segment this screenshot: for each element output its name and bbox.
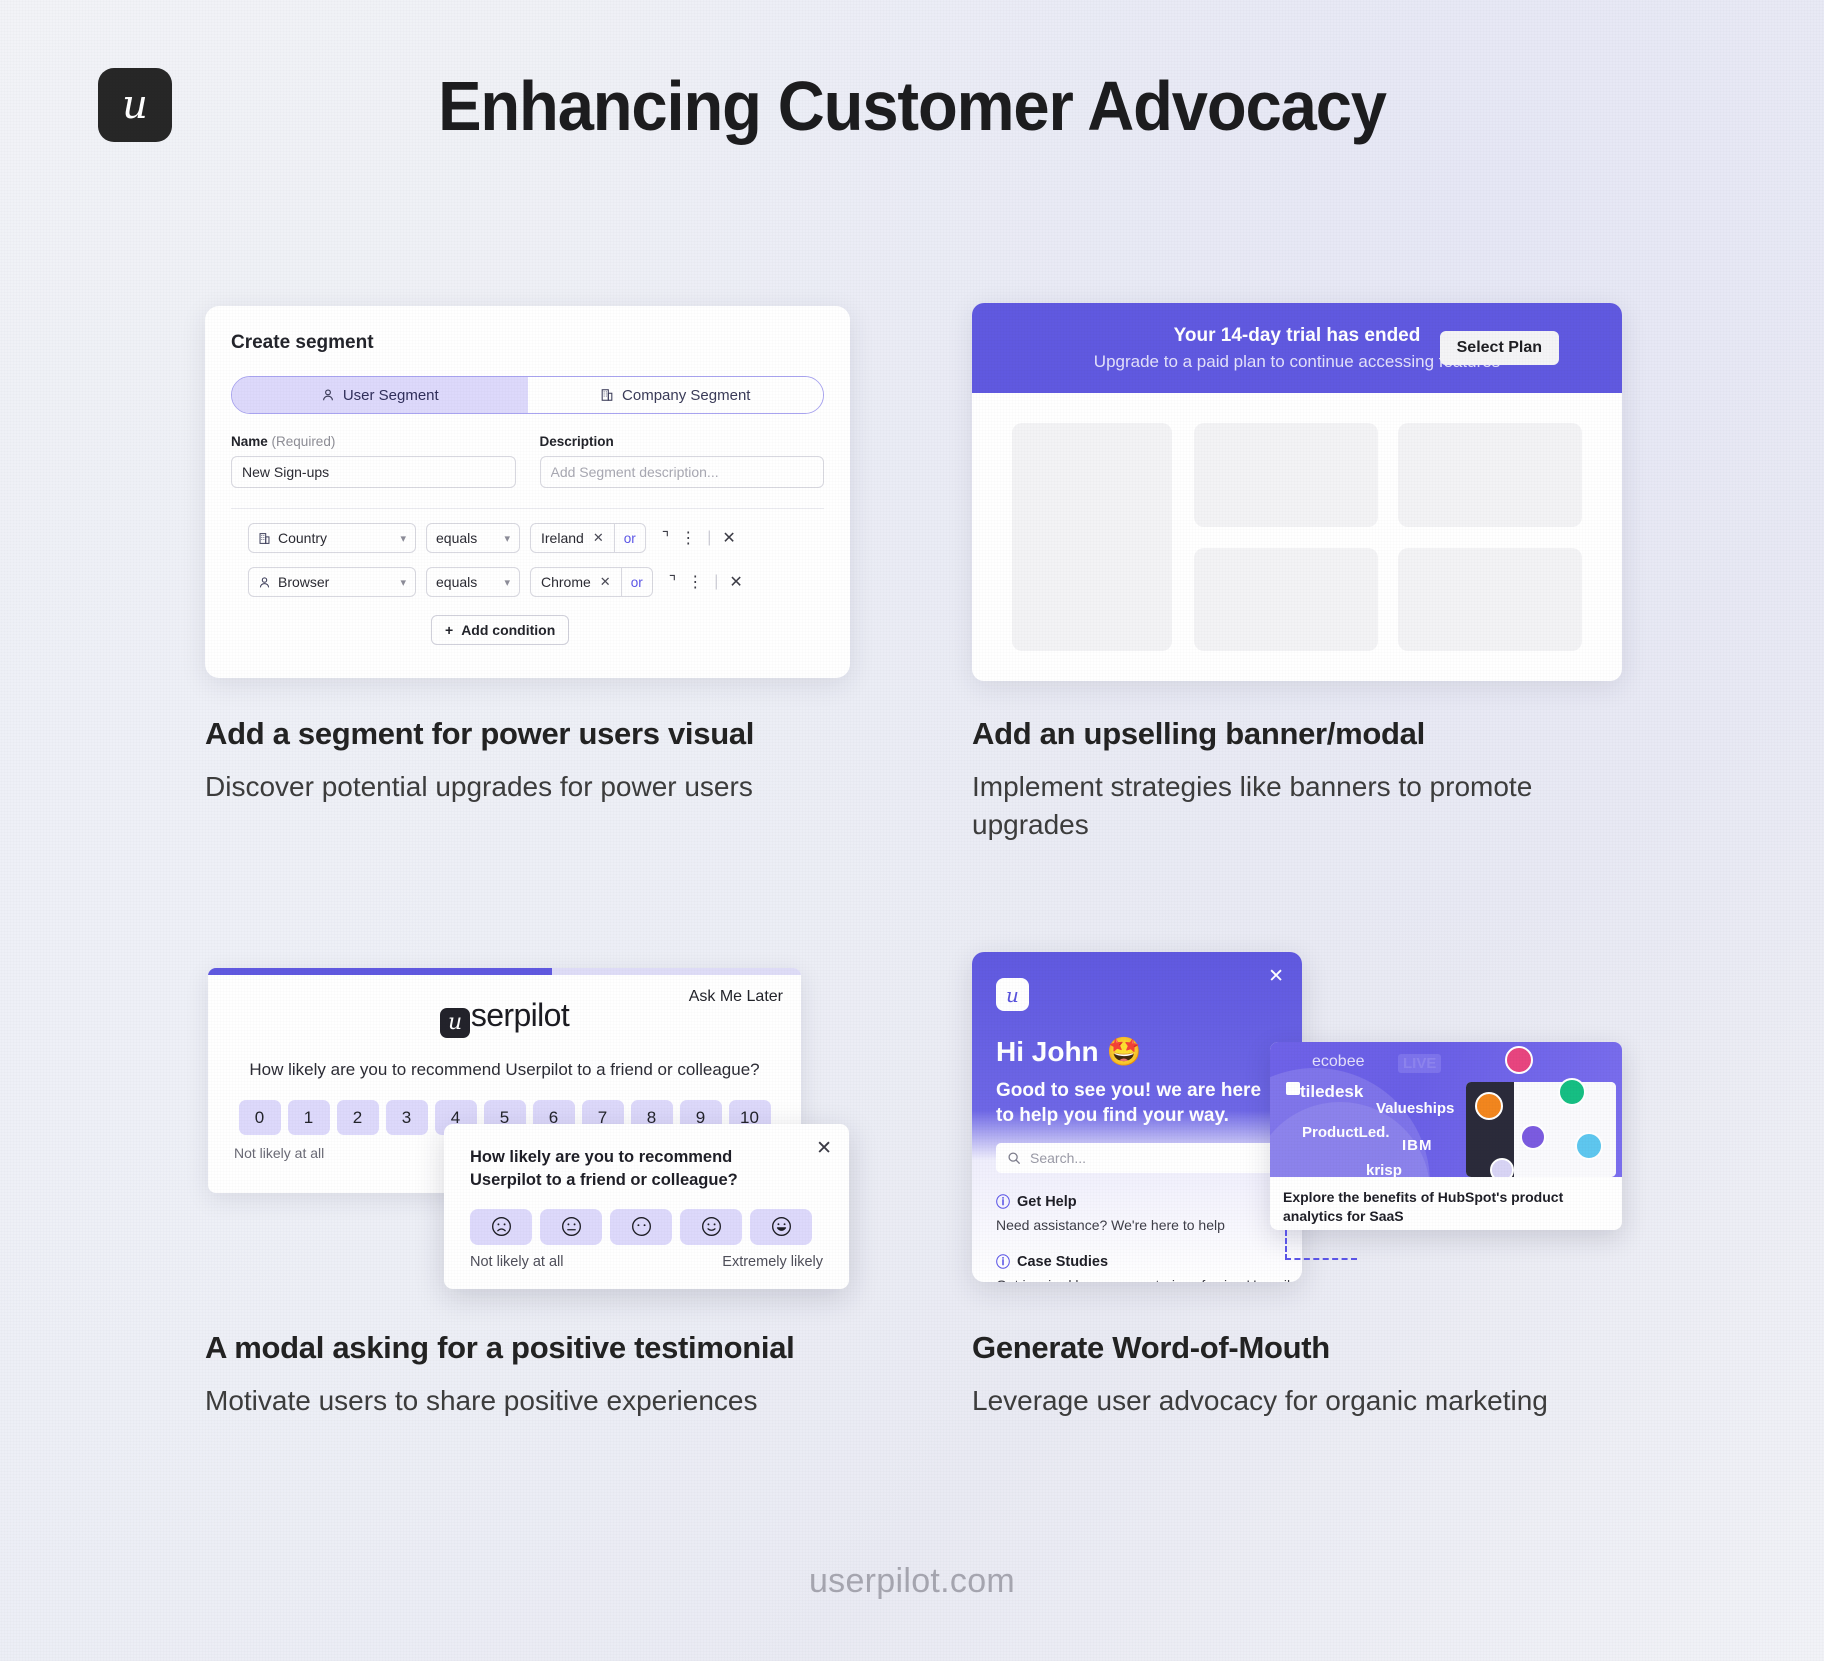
condition-joiner[interactable]: or <box>614 524 645 552</box>
info-icon: ⓘ <box>996 1192 1010 1212</box>
emoji-rating-4[interactable] <box>680 1209 742 1245</box>
tiledesk-mark-icon <box>1286 1082 1300 1095</box>
slightly-smiling-face-icon <box>700 1215 723 1238</box>
skeleton-block <box>1398 548 1582 652</box>
skeleton-block <box>1194 548 1378 652</box>
segment-name-label-text: Name <box>231 434 268 449</box>
select-plan-button[interactable]: Select Plan <box>1440 331 1559 365</box>
create-segment-card: Create segment User Segment Company Segm… <box>205 306 850 678</box>
segment-description-label: Description <box>540 434 825 449</box>
close-icon[interactable]: ✕ <box>816 1137 832 1160</box>
emoji-modal-question: How likely are you to recommend Userpilo… <box>470 1146 800 1192</box>
tab-user-segment[interactable]: User Segment <box>232 377 528 413</box>
nps-caption-sub: Motivate users to share positive experie… <box>205 1382 1035 1420</box>
upsell-banner-title: Your 14-day trial has ended <box>1174 325 1421 347</box>
nps-caption-title: A modal asking for a positive testimonia… <box>205 1330 1035 1366</box>
condition-operator-select[interactable]: equals ▾ <box>426 523 520 553</box>
segment-caption-sub: Discover potential upgrades for power us… <box>205 768 1005 806</box>
nps-score-0[interactable]: 0 <box>239 1100 281 1135</box>
delete-condition-icon[interactable]: ✕ <box>729 572 742 592</box>
segment-fields: Name (Required) Description <box>231 434 824 488</box>
userpilot-logo-icon: u <box>996 978 1029 1011</box>
emoji-rating-5[interactable] <box>750 1209 812 1245</box>
connector-line <box>1285 1230 1357 1260</box>
wom-caption: Generate Word-of-Mouth Leverage user adv… <box>972 1330 1612 1420</box>
condition-row: Browser ▾ equals ▾ Chrome ✕ or ⌝ ⋮ | ✕ <box>248 567 850 597</box>
avatar <box>1575 1132 1603 1160</box>
upsell-skeleton-body <box>972 393 1622 681</box>
tab-company-segment-label: Company Segment <box>622 387 750 404</box>
condition-value[interactable]: Ireland ✕ <box>531 524 614 552</box>
remove-value-icon[interactable]: ✕ <box>600 574 611 590</box>
condition-value-text: Chrome <box>541 574 591 590</box>
condition-attribute-select[interactable]: Browser ▾ <box>248 567 416 597</box>
skeleton-block <box>1194 423 1378 527</box>
condition-attribute-value: Country <box>278 530 327 546</box>
footer-url: userpilot.com <box>0 1562 1824 1601</box>
condition-value-text: Ireland <box>541 530 584 546</box>
divider: | <box>714 573 718 591</box>
add-condition-button[interactable]: + Add condition <box>431 615 569 645</box>
condition-operator-select[interactable]: equals ▾ <box>426 567 520 597</box>
resource-item-header: ⓘ Case Studies <box>996 1252 1302 1272</box>
blank-face-icon <box>630 1215 653 1238</box>
logo-krisp: krisp <box>1366 1162 1402 1177</box>
emoji-high-label: Extremely likely <box>722 1254 823 1270</box>
upsell-caption-sub: Implement strategies like banners to pro… <box>972 768 1592 844</box>
delete-condition-icon[interactable]: ✕ <box>722 528 735 548</box>
wom-caption-title: Generate Word-of-Mouth <box>972 1330 1612 1366</box>
remove-value-icon[interactable]: ✕ <box>593 530 604 546</box>
tab-company-segment[interactable]: Company Segment <box>528 377 824 413</box>
condition-value-box: Chrome ✕ or <box>530 567 653 597</box>
chevron-down-icon: ▾ <box>504 532 510 545</box>
condition-operator-value: equals <box>436 530 477 546</box>
add-condition-label: Add condition <box>461 622 555 638</box>
segment-caption: Add a segment for power users visual Dis… <box>205 716 1005 806</box>
emoji-rating-row <box>470 1209 823 1245</box>
resource-item-desc: Need assistance? We're here to help <box>996 1217 1302 1233</box>
plus-icon: + <box>445 622 453 638</box>
info-icon: ⓘ <box>996 1252 1010 1272</box>
nps-score-3[interactable]: 3 <box>386 1100 428 1135</box>
emoji-rating-3[interactable] <box>610 1209 672 1245</box>
chevron-down-icon: ▾ <box>504 576 510 589</box>
condition-attribute-select[interactable]: Country ▾ <box>248 523 416 553</box>
divider: | <box>707 529 711 547</box>
userpilot-wordmark-text: serpilot <box>471 997 569 1033</box>
promo-card[interactable]: ecobee LIVE tiledesk Valueships ProductL… <box>1270 1042 1622 1230</box>
emoji-rating-2[interactable] <box>540 1209 602 1245</box>
close-icon[interactable]: ✕ <box>1268 965 1284 988</box>
emoji-survey-modal: ✕ How likely are you to recommend Userpi… <box>444 1124 849 1289</box>
skeleton-row <box>1194 548 1582 652</box>
skeleton-column <box>1194 423 1582 651</box>
emoji-low-label: Not likely at all <box>470 1254 563 1270</box>
logo-live: LIVE <box>1398 1054 1441 1073</box>
resource-item-title: Get Help <box>1017 1194 1077 1210</box>
logo-ecobee: ecobee <box>1312 1053 1365 1071</box>
page-title: Enhancing Customer Advocacy <box>64 66 1760 146</box>
nps-caption: A modal asking for a positive testimonia… <box>205 1330 1035 1420</box>
resource-center-card: ✕ u Hi John 🤩 Good to see you! we are he… <box>972 952 1302 1282</box>
tab-user-segment-label: User Segment <box>343 387 439 404</box>
promo-hero: ecobee LIVE tiledesk Valueships ProductL… <box>1270 1042 1622 1177</box>
skeleton-block <box>1012 423 1172 651</box>
more-options-icon[interactable]: ⋮ <box>687 572 703 592</box>
condition-value[interactable]: Chrome ✕ <box>531 568 621 596</box>
resource-item-case-studies[interactable]: ⓘ Case Studies Get inspired by success s… <box>996 1252 1302 1282</box>
search-placeholder: Search... <box>1030 1150 1086 1166</box>
condition-row-actions: ⌝ ⋮ | ✕ <box>662 528 736 548</box>
building-icon <box>258 532 271 545</box>
condition-operator-value: equals <box>436 574 477 590</box>
create-segment-title: Create segment <box>205 306 850 354</box>
segment-description-field: Description <box>540 434 825 488</box>
logo-glyph: u <box>1006 983 1019 1007</box>
upsell-caption-title: Add an upselling banner/modal <box>972 716 1592 752</box>
avatar <box>1520 1124 1546 1150</box>
logo-tiledesk: tiledesk <box>1300 1082 1363 1102</box>
upsell-banner: Your 14-day trial has ended Upgrade to a… <box>972 303 1622 393</box>
more-options-icon[interactable]: ⋮ <box>680 528 696 548</box>
user-icon <box>258 576 271 589</box>
user-icon <box>321 388 335 402</box>
divider <box>231 508 824 509</box>
grinning-face-icon <box>770 1215 793 1238</box>
segment-description-input[interactable] <box>540 456 825 488</box>
neutral-face-icon <box>560 1215 583 1238</box>
condition-row-actions: ⌝ ⋮ | ✕ <box>669 572 743 592</box>
poster-root: u Enhancing Customer Advocacy Create seg… <box>0 0 1824 1661</box>
greeting-text: Hi John 🤩 <box>996 1035 1302 1068</box>
avatar <box>1475 1092 1503 1120</box>
condition-row: Country ▾ equals ▾ Ireland ✕ or ⌝ ⋮ | ✕ <box>248 523 850 553</box>
progress-bar <box>208 968 801 975</box>
emoji-scale-labels: Not likely at all Extremely likely <box>470 1254 823 1270</box>
promo-caption: Explore the benefits of HubSpot's produc… <box>1270 1177 1622 1225</box>
avatar <box>1505 1046 1533 1074</box>
upsell-caption: Add an upselling banner/modal Implement … <box>972 716 1592 844</box>
wom-caption-sub: Leverage user advocacy for organic marke… <box>972 1382 1612 1420</box>
building-icon <box>600 388 614 402</box>
greeting-subtitle: Good to see you! we are here to help you… <box>996 1078 1278 1129</box>
logo-ibm: IBM <box>1402 1137 1433 1154</box>
skeleton-row <box>1194 423 1582 527</box>
resource-item-header: ⓘ Get Help <box>996 1192 1302 1212</box>
upsell-card: Your 14-day trial has ended Upgrade to a… <box>972 303 1622 681</box>
branch-icon[interactable]: ⌝ <box>669 572 677 592</box>
nps-score-1[interactable]: 1 <box>288 1100 330 1135</box>
logo-productled: ProductLed. <box>1302 1124 1390 1141</box>
nps-score-2[interactable]: 2 <box>337 1100 379 1135</box>
segment-type-tabs: User Segment Company Segment <box>231 376 824 414</box>
branch-icon[interactable]: ⌝ <box>662 528 670 548</box>
condition-joiner[interactable]: or <box>621 568 652 596</box>
condition-attribute-value: Browser <box>278 574 329 590</box>
resource-item-title: Case Studies <box>1017 1254 1108 1270</box>
segment-name-field: Name (Required) <box>231 434 516 488</box>
userpilot-logo-icon: u <box>440 1008 470 1038</box>
skeleton-block <box>1398 423 1582 527</box>
chevron-down-icon: ▾ <box>400 532 406 545</box>
segment-name-required: (Required) <box>272 434 336 449</box>
avatar <box>1558 1078 1586 1106</box>
condition-value-box: Ireland ✕ or <box>530 523 646 553</box>
ask-me-later-button[interactable]: Ask Me Later <box>689 988 783 1006</box>
resource-item-get-help[interactable]: ⓘ Get Help Need assistance? We're here t… <box>996 1192 1302 1233</box>
nps-question: How likely are you to recommend Userpilo… <box>208 1060 801 1080</box>
search-icon <box>1007 1151 1021 1165</box>
resource-item-desc: Get inspired by success stories of using… <box>996 1277 1302 1282</box>
segment-caption-title: Add a segment for power users visual <box>205 716 1005 752</box>
logo-valueships: Valueships <box>1376 1100 1454 1117</box>
frowning-face-icon <box>490 1215 513 1238</box>
emoji-rating-1[interactable] <box>470 1209 532 1245</box>
search-input[interactable]: Search... <box>996 1143 1281 1173</box>
segment-name-label: Name (Required) <box>231 434 516 449</box>
nps-low-label: Not likely at all <box>234 1145 324 1161</box>
segment-name-input[interactable] <box>231 456 516 488</box>
avatar <box>1490 1158 1514 1177</box>
chevron-down-icon: ▾ <box>400 576 406 589</box>
